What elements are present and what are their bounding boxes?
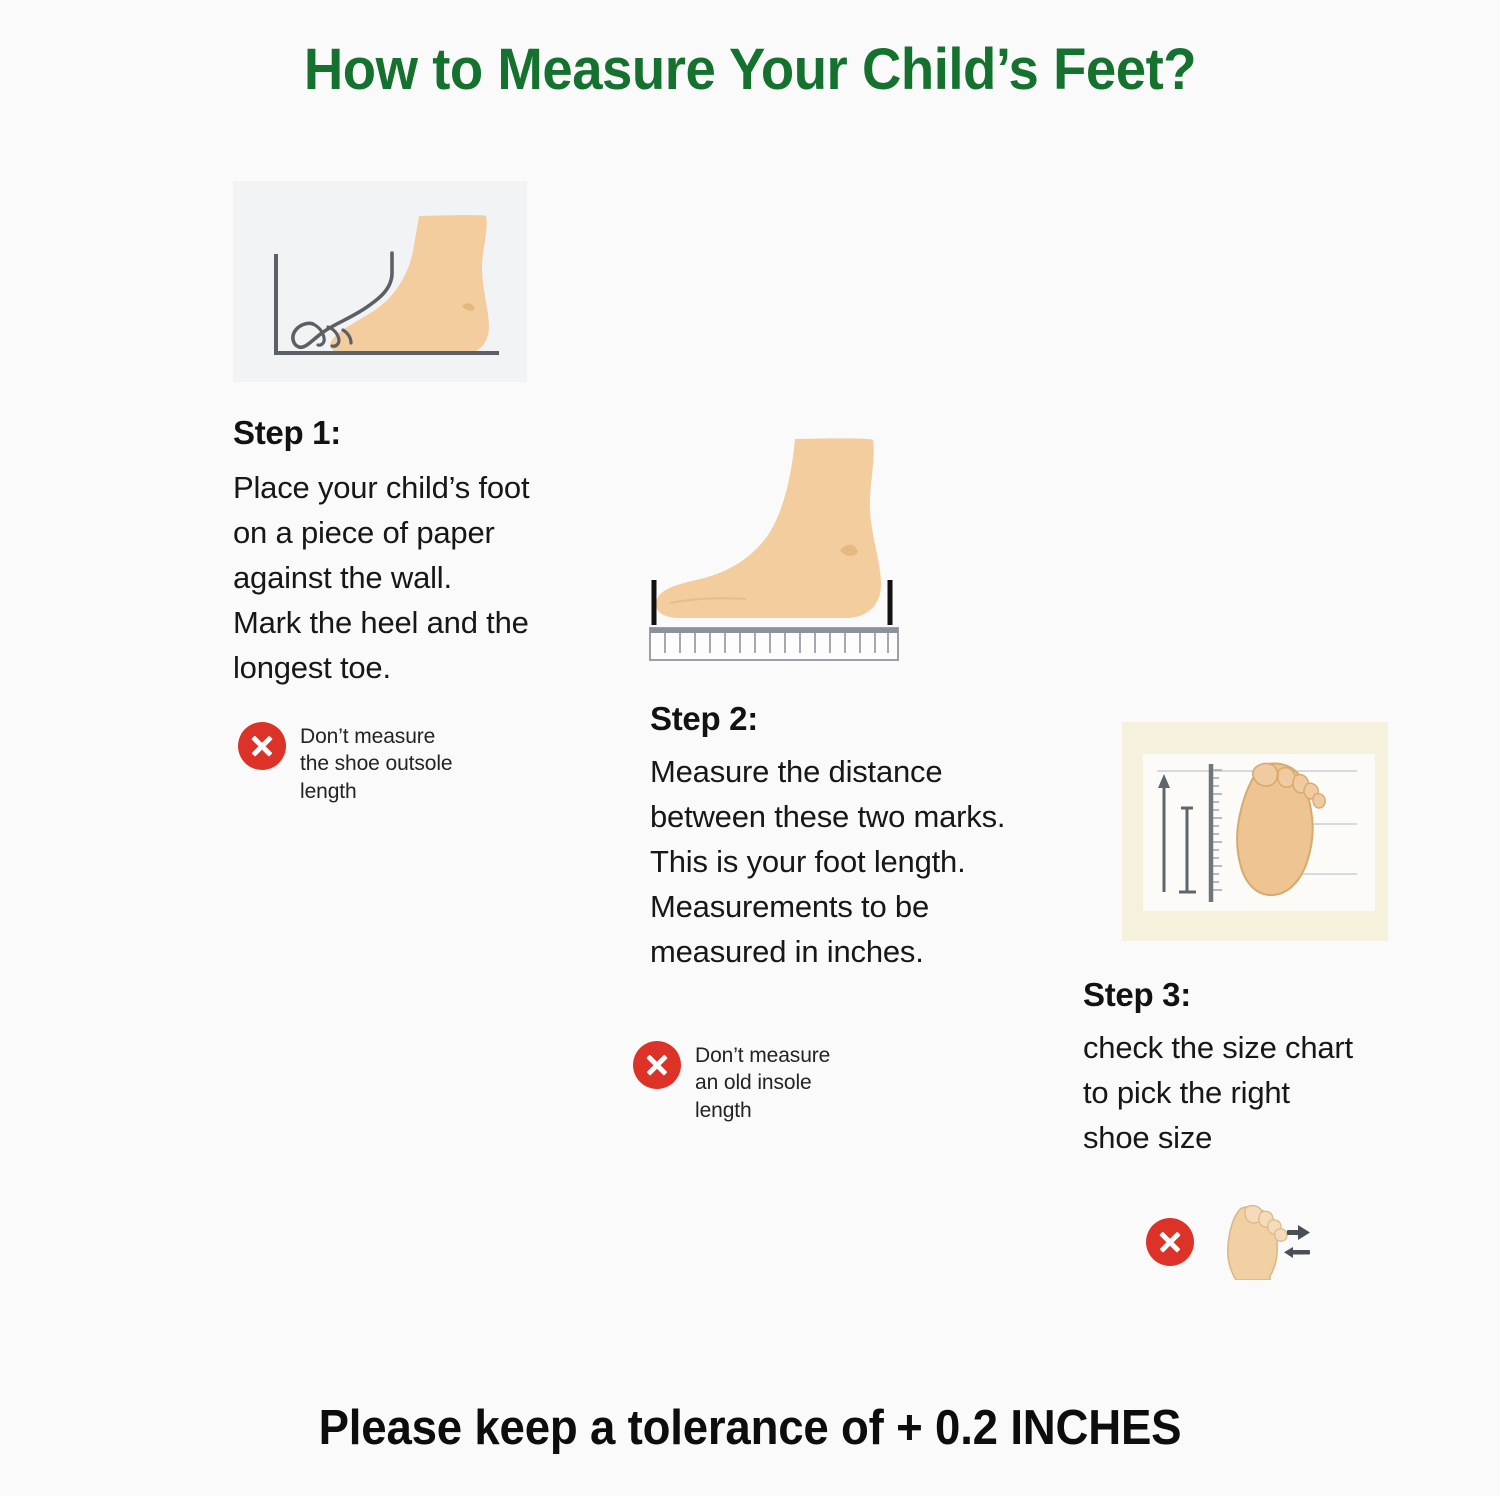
step-3-warning (1146, 1204, 1366, 1280)
foot-sole-shape (1237, 763, 1325, 895)
arrow-up-short-icon (1179, 808, 1196, 892)
step-2-body: Measure the distance between these two m… (650, 750, 1080, 975)
step-1-illustration-panel (233, 181, 527, 382)
red-x-circle-icon (1146, 1218, 1194, 1266)
red-x-circle-icon (238, 722, 286, 770)
foot-sole-size-chart-icon (1143, 754, 1375, 911)
red-x-circle-icon (633, 1041, 681, 1089)
step-2-warning: Don’t measure an old insole length (633, 1041, 933, 1124)
arrow-up-long-icon (1158, 774, 1170, 892)
step-3-text-block: Step 3: check the size chart to pick the… (1083, 976, 1413, 1161)
page-title: How to Measure Your Child’s Feet? (45, 36, 1455, 103)
step-3-body: check the size chart to pick the right s… (1083, 1026, 1413, 1161)
step-2-illustration-panel (640, 425, 940, 670)
arrow-right-icon (1287, 1225, 1310, 1240)
step-2-text-block: Step 2: Measure the distance between the… (650, 700, 1080, 975)
step-1-warning-text: Don’t measure the shoe outsole length (300, 722, 453, 805)
foot-side-on-ruler-icon (640, 425, 940, 670)
step-3-chart-inner (1143, 754, 1375, 911)
step-2-heading: Step 2: (650, 700, 1080, 738)
step-1-text-block: Step 1: Place your child’s foot on a pie… (233, 414, 563, 691)
step-3-illustration-panel (1122, 722, 1388, 941)
foot-sole-top-icon (1220, 1204, 1310, 1280)
foot-sole-shape (1228, 1206, 1287, 1280)
step-3-heading: Step 3: (1083, 976, 1413, 1014)
tolerance-note: Please keep a tolerance of + 0.2 INCHES (53, 1400, 1448, 1456)
step-1-warning: Don’t measure the shoe outsole length (238, 722, 528, 805)
step-1-body: Place your child’s foot on a piece of pa… (233, 466, 563, 691)
step-1-heading: Step 1: (233, 414, 563, 452)
foot-side-against-wall-icon (233, 181, 527, 382)
measurement-guide-canvas: How to Measure Your Child’s Feet? Step 1… (0, 0, 1500, 1496)
arrow-left-icon (1284, 1247, 1310, 1258)
step-2-warning-text: Don’t measure an old insole length (695, 1041, 830, 1124)
ruler-icon (650, 628, 898, 660)
